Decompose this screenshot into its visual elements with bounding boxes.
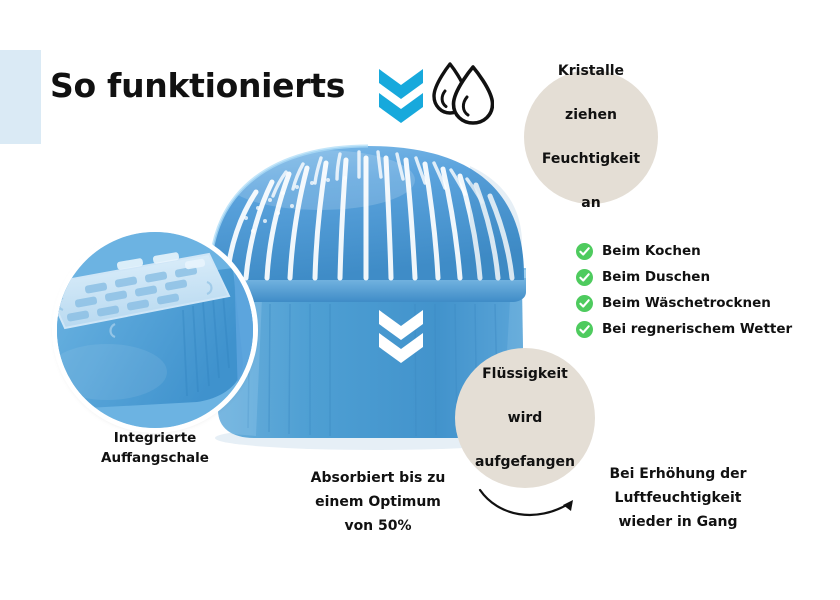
check-circle-icon [576, 269, 593, 286]
list-item: Beim Kochen [576, 238, 836, 264]
callout-line3: Feuchtigkeit [542, 148, 640, 170]
list-item: Beim Wäschetrocknen [576, 290, 836, 316]
callout-line2: wird [475, 407, 575, 429]
caption-line3: von 50% [344, 518, 411, 534]
callout-line2: ziehen [542, 104, 640, 126]
double-chevron-down-icon-top [376, 66, 426, 124]
callout-liquid-is-collected: Flüssigkeit wird aufgefangen [455, 348, 595, 488]
decorative-blue-tab [0, 50, 41, 144]
caption-line1: Absorbiert bis zu [311, 470, 446, 486]
caption-line2: einem Optimum [315, 494, 441, 510]
callout-line1: Flüssigkeit [475, 363, 575, 385]
water-droplets-icon [428, 58, 494, 128]
double-chevron-down-icon-middle [376, 308, 426, 364]
caption-line2: Luftfeuchtigkeit [615, 490, 742, 506]
list-item-label: Bei regnerischem Wetter [602, 321, 792, 337]
list-item: Beim Duschen [576, 264, 836, 290]
callout-crystals-attract-moisture: Kristalle ziehen Feuchtigkeit an [524, 70, 658, 204]
callout-line4: an [542, 192, 640, 214]
list-item-label: Beim Duschen [602, 269, 710, 285]
check-circle-icon [576, 321, 593, 338]
list-item-label: Beim Wäschetrocknen [602, 295, 771, 311]
list-item-label: Beim Kochen [602, 243, 701, 259]
page-title: So funktionierts [50, 66, 345, 105]
detail-caption-line2: Auffangschale [101, 450, 209, 466]
caption-line3: wieder in Gang [618, 514, 737, 530]
detail-caption-line1: Integrierte [114, 430, 197, 446]
usage-checklist: Beim Kochen Beim Duschen Beim Wäschetroc… [576, 238, 836, 342]
infographic-canvas: So funktionierts [0, 0, 840, 600]
caption-absorb-capacity: Absorbiert bis zu einem Optimum von 50% [288, 466, 468, 538]
callout-text: Flüssigkeit wird aufgefangen [475, 363, 575, 473]
callout-line1: Kristalle [542, 60, 640, 82]
detail-closeup-drip-tray [57, 232, 253, 428]
callout-line3: aufgefangen [475, 451, 575, 473]
detail-caption: Integrierte Auffangschale [60, 428, 250, 468]
list-item: Bei regnerischem Wetter [576, 316, 836, 342]
check-circle-icon [576, 295, 593, 312]
caption-line1: Bei Erhöhung der [609, 466, 746, 482]
curved-arrow-right-icon [478, 486, 588, 536]
check-circle-icon [576, 243, 593, 260]
callout-text: Kristalle ziehen Feuchtigkeit an [542, 60, 640, 214]
caption-restart-on-humidity: Bei Erhöhung der Luftfeuchtigkeit wieder… [578, 462, 778, 534]
